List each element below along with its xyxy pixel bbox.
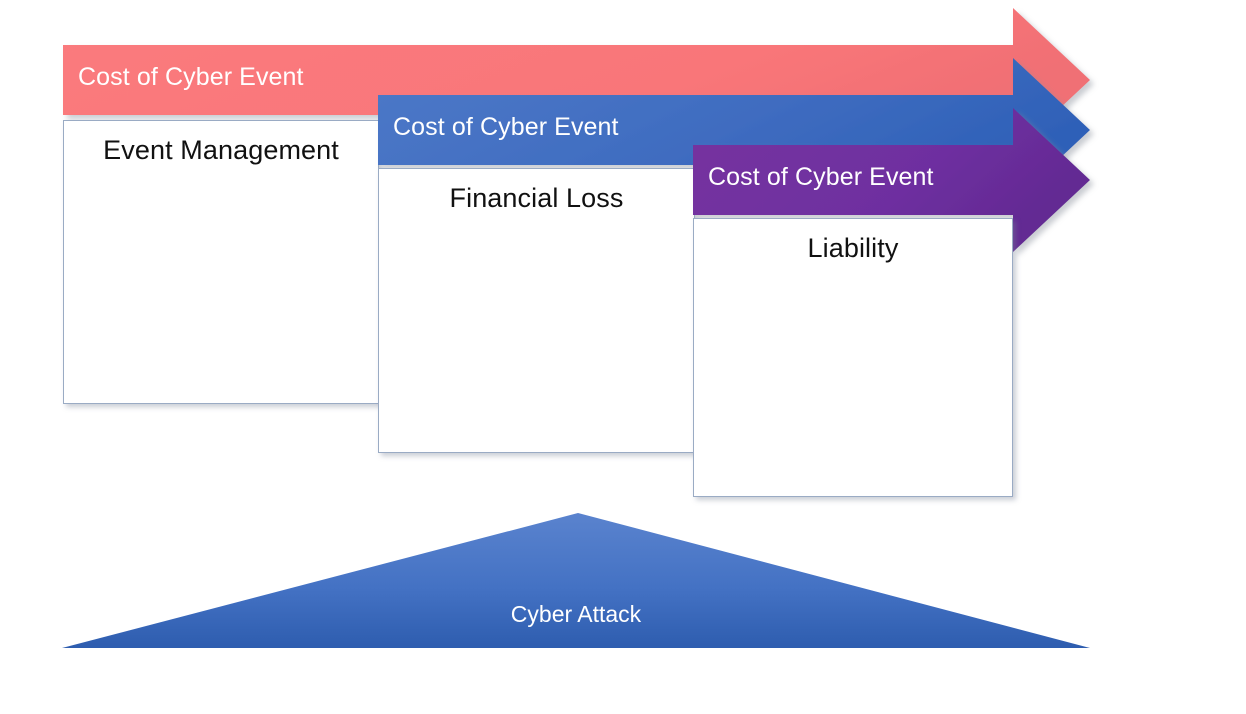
content-box-financial-loss[interactable]: Financial Loss xyxy=(378,168,695,453)
slide-canvas: Cyber Attack Cost of Cyber Event xyxy=(0,0,1246,714)
arrow-blue-label: Cost of Cyber Event xyxy=(393,115,619,140)
content-box-event-management[interactable]: Event Management xyxy=(63,120,379,404)
cyber-attack-label: Cyber Attack xyxy=(62,603,1090,626)
content-box-liability-label: Liability xyxy=(694,233,1012,264)
arrow-purple-label: Cost of Cyber Event xyxy=(708,165,934,190)
content-box-financial-loss-label: Financial Loss xyxy=(379,183,694,214)
arrow-red-label: Cost of Cyber Event xyxy=(78,65,304,90)
content-box-event-management-label: Event Management xyxy=(64,135,378,166)
content-box-liability[interactable]: Liability xyxy=(693,218,1013,497)
